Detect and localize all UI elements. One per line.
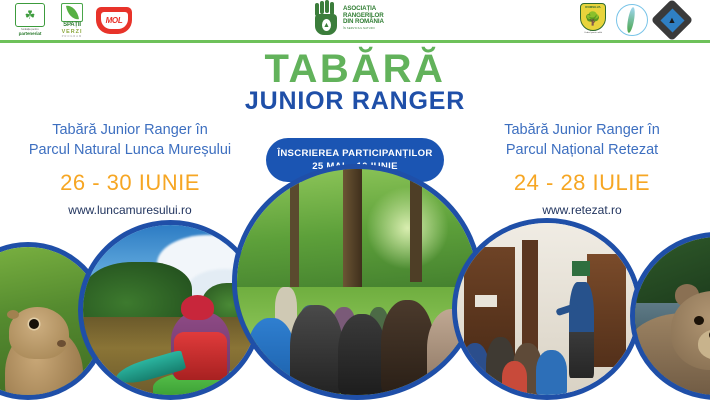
fp-mark-icon: ☘ — [15, 3, 45, 27]
leaf-icon — [61, 3, 83, 22]
camp-info-left: Tabără Junior Ranger în Parcul Natural L… — [6, 120, 254, 217]
poster: ☘ fundația pentru parteneriat SPAȚII VER… — [0, 0, 710, 400]
partner-logos-right: ROMSILVA 🌳 Codrul pentru oblit ▲ — [578, 3, 688, 37]
right-camp-line2: Parcul Național Retezat — [458, 140, 706, 160]
association-line3: DIN ROMÂNIA — [343, 19, 384, 25]
sv-line3: PROGRAM — [62, 35, 82, 38]
lunca-muresului-park-logo — [615, 3, 649, 37]
retezat-park-logo: ▲ — [656, 4, 688, 36]
photo-brown-bear — [630, 232, 710, 400]
shield-icon: ROMSILVA 🌳 — [580, 3, 606, 31]
mol-shield-icon: MOL — [96, 7, 132, 34]
green-divider — [0, 40, 710, 43]
sv-line1: SPAȚII — [63, 22, 81, 29]
photo-children-hiking — [232, 164, 482, 400]
photo-indoor-presentation — [452, 218, 642, 400]
spatii-verzi-logo: SPAȚII VERZI PROGRAM — [55, 3, 89, 38]
left-camp-date: 26 - 30 IUNIE — [6, 166, 254, 200]
page-subtitle: JUNIOR RANGER — [0, 88, 710, 115]
fundatia-pentru-parteneriat-logo: ☘ fundația pentru parteneriat — [12, 3, 48, 38]
partner-logos-left: ☘ fundația pentru parteneriat SPAȚII VER… — [12, 3, 132, 38]
mol-wordmark: MOL — [106, 16, 123, 25]
association-logo: ▲ ASOCIAȚIA RANGERILOR DIN ROMÂNIA ÎN SE… — [313, 3, 384, 36]
romsilva-caption: Codrul pentru oblit — [584, 32, 602, 34]
left-camp-url[interactable]: www.luncamuresului.ro — [6, 203, 254, 217]
fp-line2: parteneriat — [19, 31, 42, 36]
bird-glyph-icon: ▲ — [668, 15, 677, 25]
right-camp-url[interactable]: www.retezat.ro — [458, 203, 706, 217]
romsilva-top: ROMSILVA — [585, 5, 600, 9]
right-camp-date: 24 - 28 IULIE — [458, 166, 706, 200]
hand-leaf-icon: ▲ — [313, 3, 339, 36]
page-title: TABĂRĂ — [0, 48, 710, 90]
camp-info-right: Tabără Junior Ranger în Parcul Național … — [458, 120, 706, 217]
mol-logo: MOL — [96, 7, 132, 35]
registration-title: ÎNSCRIEREA PARTICIPANȚILOR — [277, 147, 432, 160]
right-camp-line1: Tabără Junior Ranger în — [458, 120, 706, 140]
photo-strip — [0, 235, 710, 400]
romsilva-logo: ROMSILVA 🌳 Codrul pentru oblit — [578, 3, 608, 37]
association-tagline: ÎN SERVICIUL NATURII — [343, 26, 384, 32]
left-camp-line1: Tabără Junior Ranger în — [6, 120, 254, 140]
logo-bar: ☘ fundația pentru parteneriat SPAȚII VER… — [0, 0, 710, 41]
left-camp-line2: Parcul Natural Lunca Mureșului — [6, 140, 254, 160]
